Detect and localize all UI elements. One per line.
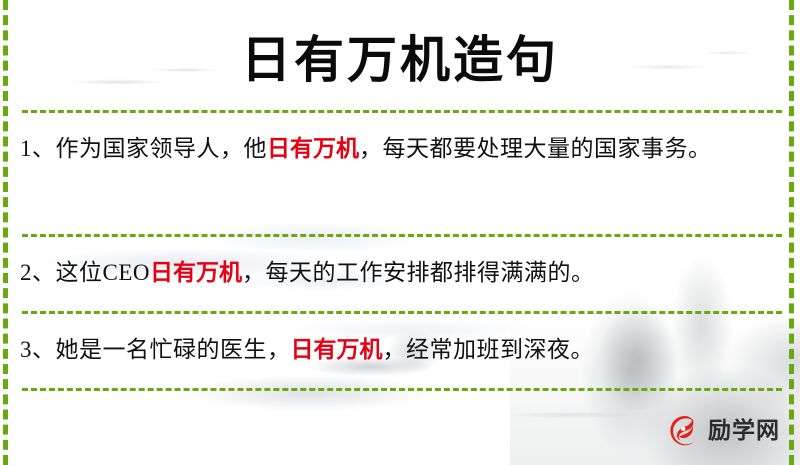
sentence-text-after: ，每天的工作安排都排得满满的。 [242, 260, 595, 285]
sentence-text-after: ，每天都要处理大量的国家事务。 [359, 136, 712, 161]
title-band: 日有万机造句 [0, 18, 800, 94]
sentence-index: 2、 [20, 260, 56, 285]
sentence-item: 1、作为国家领导人，他日有万机，每天都要处理大量的国家事务。 [20, 128, 780, 170]
dashed-border-left [3, 0, 8, 465]
sentence-text-before: 作为国家领导人，他 [56, 136, 268, 161]
sentence-item: 3、她是一名忙碌的医生，日有万机，经常加班到深夜。 [20, 329, 780, 371]
sentence-index: 3、 [20, 337, 56, 362]
sentence-text-before: 这位CEO [56, 260, 151, 285]
dashed-border-right [789, 0, 794, 465]
sentence-text-before: 她是一名忙碌的医生， [56, 337, 291, 362]
sentence-text-after: ，经常加班到深夜。 [383, 337, 595, 362]
sentence-highlight-term: 日有万机 [267, 136, 359, 161]
dashed-separator-2 [22, 311, 782, 314]
red-swirl-bird-icon [668, 414, 702, 448]
dashed-separator-bottom [22, 388, 782, 391]
sentence-index: 1、 [20, 136, 56, 161]
ink-wash-hill [150, 190, 490, 250]
page-title: 日有万机造句 [241, 20, 559, 92]
dashed-separator-1 [22, 234, 782, 237]
site-watermark-logo: 励学网 [668, 414, 780, 448]
sentence-highlight-term: 日有万机 [291, 337, 383, 362]
sentence-item: 2、这位CEO日有万机，每天的工作安排都排得满满的。 [20, 252, 780, 294]
dashed-separator-top [22, 110, 782, 113]
site-watermark-text: 励学网 [708, 420, 780, 443]
sentence-card-page: 日有万机造句 1、作为国家领导人，他日有万机，每天都要处理大量的国家事务。 2、… [0, 0, 800, 465]
sentence-highlight-term: 日有万机 [150, 260, 242, 285]
ink-wash-stroke-bottom [460, 395, 680, 435]
